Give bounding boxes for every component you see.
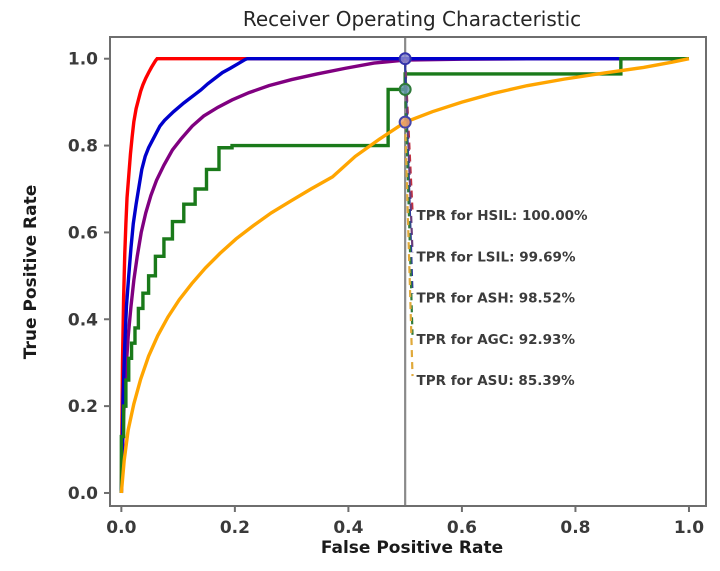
annotation-asu: TPR for ASU: 85.39% [417, 373, 576, 389]
marker-hsil [400, 53, 411, 64]
x-tick-label: 0.8 [560, 518, 590, 538]
chart-title: Receiver Operating Characteristic [243, 7, 581, 31]
roc-chart-svg: Receiver Operating Characteristic 0.00.2… [0, 0, 720, 571]
annotation-hsil: TPR for HSIL: 100.00% [417, 208, 589, 224]
annotation-lsil: TPR for LSIL: 99.69% [417, 249, 576, 265]
annotation-ash: TPR for ASH: 98.52% [417, 291, 576, 307]
x-tick-label: 0.2 [220, 518, 250, 538]
marker-asu [400, 117, 411, 128]
y-tick-label: 0.0 [68, 484, 98, 504]
y-tick-label: 0.8 [68, 137, 98, 157]
y-tick-label: 0.4 [68, 310, 98, 330]
x-tick-label: 0.4 [333, 518, 363, 538]
marker-agc [400, 84, 411, 95]
x-axis-label: False Positive Rate [321, 538, 503, 558]
figure-background [0, 0, 720, 571]
y-tick-label: 0.2 [68, 397, 98, 417]
x-tick-label: 1.0 [674, 518, 704, 538]
roc-chart-figure: Receiver Operating Characteristic 0.00.2… [0, 0, 720, 571]
annotation-agc: TPR for AGC: 92.93% [417, 332, 576, 348]
x-tick-label: 0.0 [106, 518, 136, 538]
y-tick-label: 0.6 [68, 223, 98, 243]
y-tick-label: 1.0 [68, 50, 98, 70]
y-axis-label: True Positive Rate [21, 185, 41, 359]
x-tick-label: 0.6 [447, 518, 477, 538]
